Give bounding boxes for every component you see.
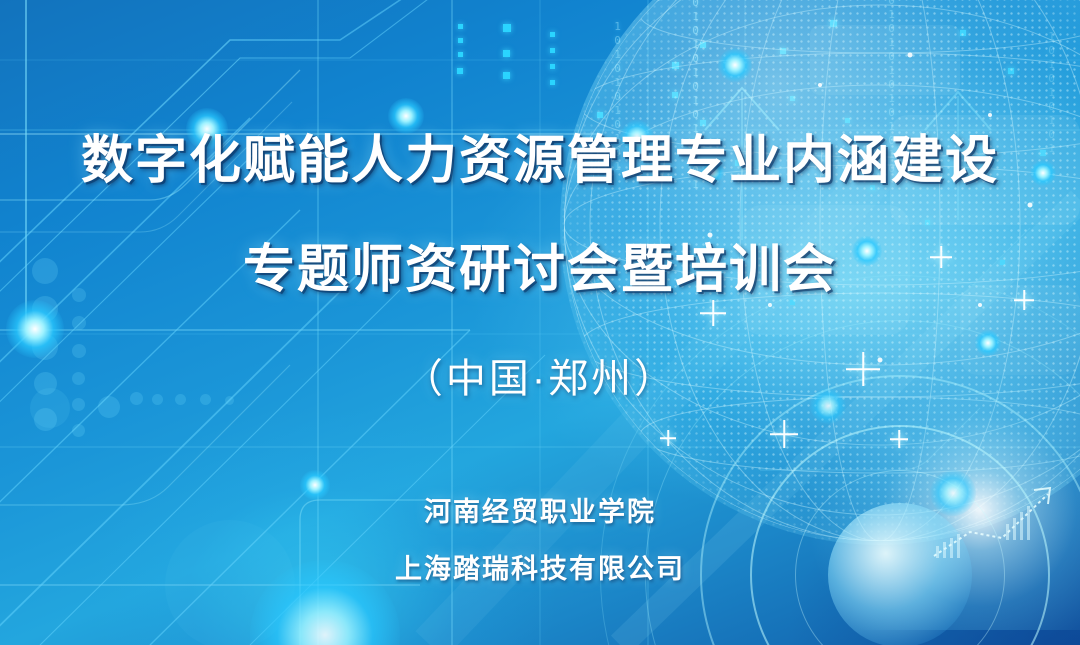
banner-title-line-1: 数字化赋能人力资源管理专业内涵建设 <box>81 118 999 193</box>
banner-location-subtitle: （中国·郑州） <box>403 346 677 404</box>
organizer-primary: 河南经贸职业学院 <box>424 490 656 529</box>
banner-content: 数字化赋能人力资源管理专业内涵建设 专题师资研讨会暨培训会 （中国·郑州） 河南… <box>0 0 1080 645</box>
conference-banner: 01010101010101 10101010101 0101010101010… <box>0 0 1080 645</box>
organizer-secondary: 上海踏瑞科技有限公司 <box>395 547 685 586</box>
banner-title-line-2: 专题师资研讨会暨培训会 <box>243 227 837 302</box>
